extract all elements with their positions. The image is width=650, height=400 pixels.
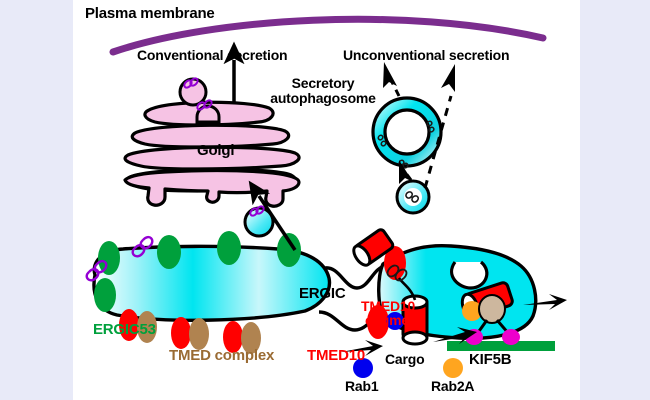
label-conventional-secretion: Conventional secretion	[137, 48, 287, 63]
label-tmed-complex: TMED complex	[169, 348, 274, 364]
kif5b-head	[479, 295, 505, 323]
label-tmed10-oligomer-2: oligmer	[365, 313, 414, 328]
label-golgi: Golgi	[197, 143, 234, 159]
microtubule-bar	[447, 341, 555, 351]
label-tmed10: TMED10	[307, 348, 365, 364]
label-plasma-membrane: Plasma membrane	[85, 6, 215, 22]
label-rab1: Rab1	[345, 379, 378, 394]
label-rab2a: Rab2A	[431, 379, 474, 394]
label-ergic: ERGIC	[299, 286, 346, 302]
secretory-vesicle-free	[180, 78, 206, 105]
label-secretory-autophagosome-1: Secretory	[253, 76, 393, 91]
secretory-autophagosome	[373, 98, 441, 168]
figure-canvas: Plasma membrane Conventional secretion U…	[73, 0, 580, 400]
label-secretory-autophagosome-2: autophagosome	[247, 91, 399, 106]
label-ergic53: ERGIC53	[93, 322, 156, 338]
legend-marker-rab2a	[443, 358, 463, 378]
kif5b-foot-right	[502, 329, 520, 345]
label-cargo: Cargo	[385, 352, 424, 367]
label-kif5b: KIF5B	[469, 352, 511, 368]
figure-root: Plasma membrane Conventional secretion U…	[0, 0, 650, 400]
label-unconventional-secretion: Unconventional secretion	[343, 48, 509, 63]
